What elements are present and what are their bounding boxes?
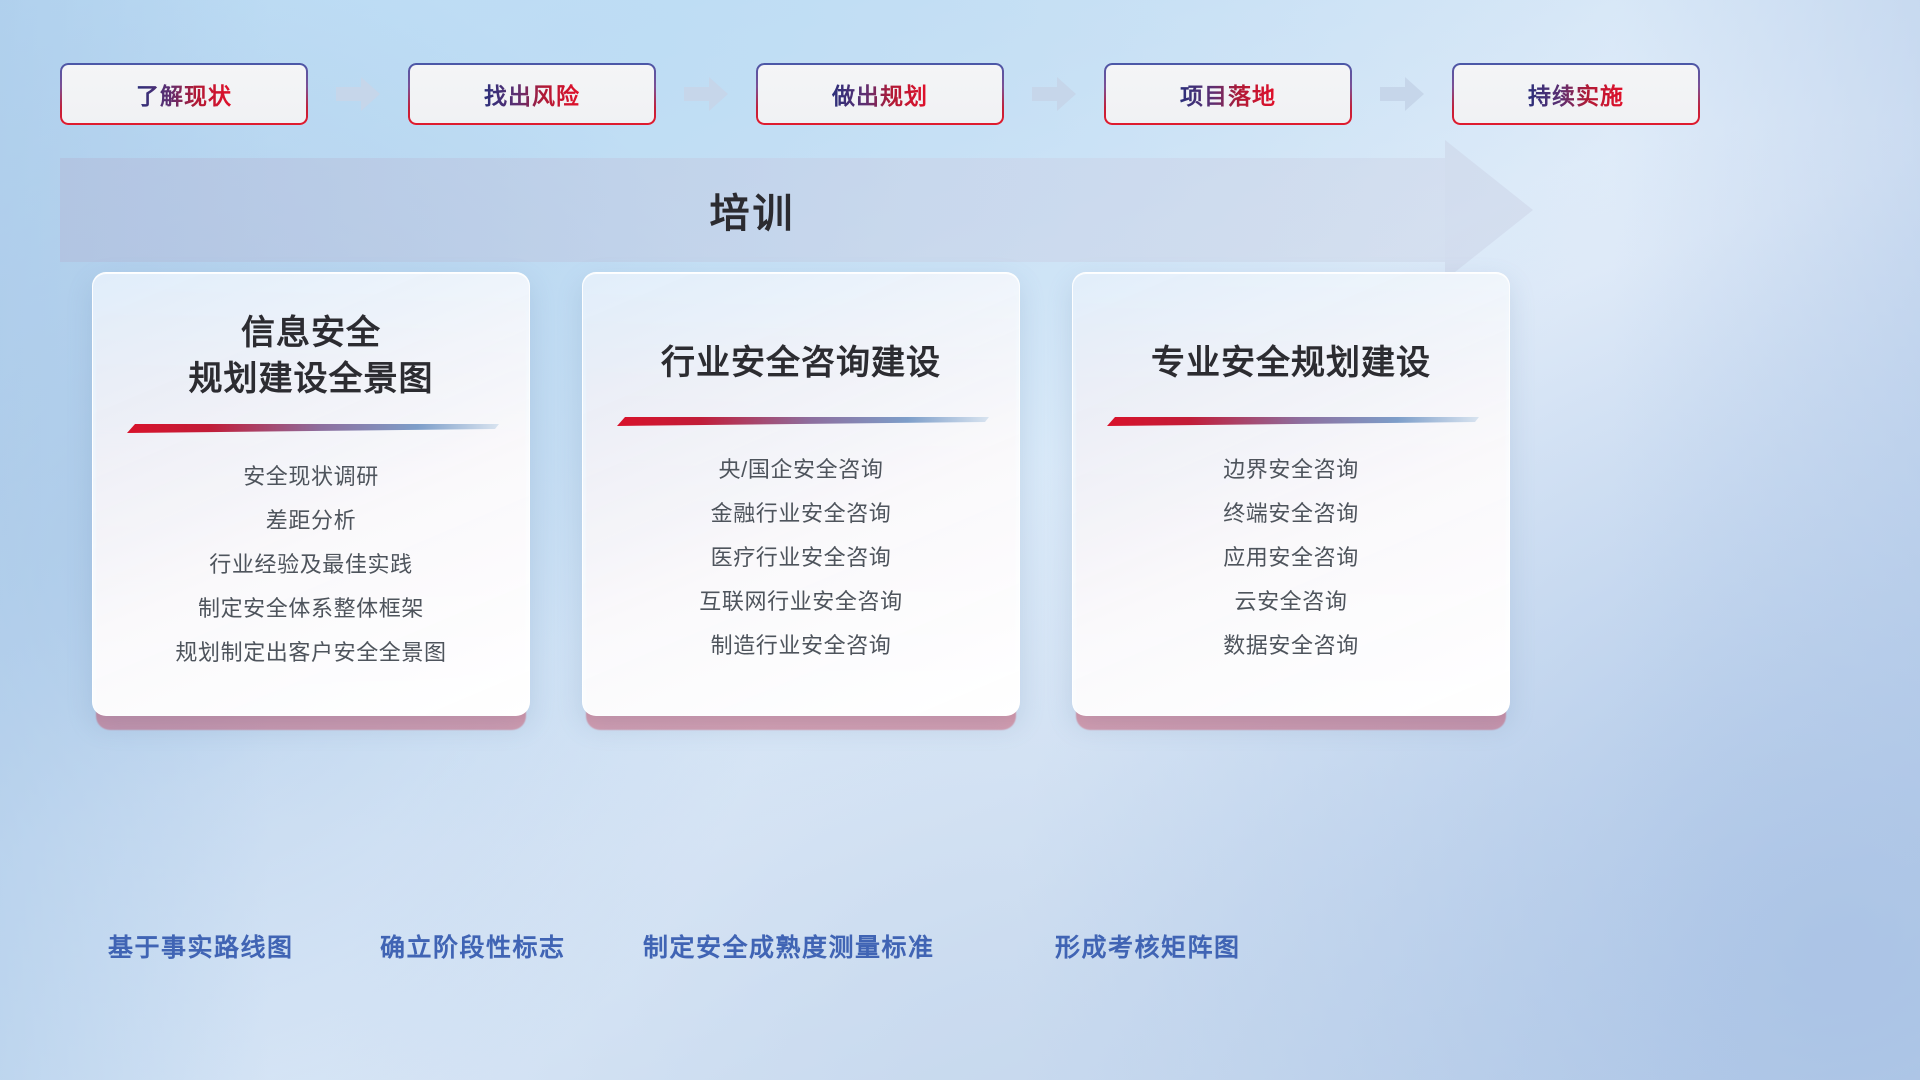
step-label: 了解现状 <box>136 77 232 111</box>
card-list: 边界安全咨询 终端安全咨询 应用安全咨询 云安全咨询 数据安全咨询 <box>1073 453 1509 663</box>
list-item: 数据安全咨询 <box>1223 629 1359 663</box>
list-item: 边界安全咨询 <box>1223 453 1359 487</box>
list-item: 制造行业安全咨询 <box>711 629 892 663</box>
list-item: 制定安全体系整体框架 <box>198 592 424 626</box>
process-steps: 了解现状 找出风险 做出规划 项目落地 持续实施 <box>60 63 1860 125</box>
card-1[interactable]: 信息安全 规划建设全景图 安全现状调研 <box>92 272 530 716</box>
step-label: 项目落地 <box>1180 77 1276 111</box>
list-item: 应用安全咨询 <box>1223 541 1359 575</box>
card-list: 安全现状调研 差距分析 行业经验及最佳实践 制定安全体系整体框架 规划制定出客户… <box>93 460 529 670</box>
list-item: 终端安全咨询 <box>1223 497 1359 531</box>
bottom-label-row: 基于事实路线图 确立阶段性标志 制定安全成熟度测量标准 形成考核矩阵图 <box>0 928 1920 974</box>
card-divider <box>613 415 989 427</box>
step-card-3[interactable]: 做出规划 <box>756 63 1004 125</box>
list-item: 差距分析 <box>266 504 356 538</box>
card-divider <box>1103 415 1479 427</box>
card-title: 信息安全 规划建设全景图 <box>189 311 434 402</box>
bottom-label-2: 确立阶段性标志 <box>380 928 566 964</box>
card-body: 专业安全规划建设 边界安全咨询 <box>1072 272 1510 716</box>
step-card-5[interactable]: 持续实施 <box>1452 63 1700 125</box>
card-title: 专业安全规划建设 <box>1151 341 1431 387</box>
step-arrow-icon-4 <box>1352 63 1452 125</box>
card-body: 信息安全 规划建设全景图 安全现状调研 <box>92 272 530 716</box>
training-banner: 培训 <box>60 158 1520 262</box>
list-item: 互联网行业安全咨询 <box>699 585 902 619</box>
list-item: 医疗行业安全咨询 <box>711 541 892 575</box>
bottom-label-1: 基于事实路线图 <box>108 928 294 964</box>
step-arrow-icon-3 <box>1004 63 1104 125</box>
step-card-2[interactable]: 找出风险 <box>408 63 656 125</box>
card-divider <box>123 422 499 434</box>
list-item: 云安全咨询 <box>1234 585 1347 619</box>
banner-arrowhead-icon <box>1445 140 1533 280</box>
step-arrow-icon-1 <box>308 63 408 125</box>
list-item: 安全现状调研 <box>243 460 379 494</box>
card-2[interactable]: 行业安全咨询建设 央/国企安全咨询 <box>582 272 1020 716</box>
list-item: 规划制定出客户安全全景图 <box>175 636 446 670</box>
list-item: 金融行业安全咨询 <box>711 497 892 531</box>
list-item: 央/国企安全咨询 <box>719 453 884 487</box>
banner-label: 培训 <box>60 158 1445 262</box>
bottom-label-4: 形成考核矩阵图 <box>1055 928 1241 964</box>
card-group: 信息安全 规划建设全景图 安全现状调研 <box>92 272 1512 716</box>
step-label: 持续实施 <box>1528 77 1624 111</box>
step-card-4[interactable]: 项目落地 <box>1104 63 1352 125</box>
card-body: 行业安全咨询建设 央/国企安全咨询 <box>582 272 1020 716</box>
step-label: 做出规划 <box>832 77 928 111</box>
step-arrow-icon-2 <box>656 63 756 125</box>
card-3[interactable]: 专业安全规划建设 边界安全咨询 <box>1072 272 1510 716</box>
step-label: 找出风险 <box>484 77 580 111</box>
card-list: 央/国企安全咨询 金融行业安全咨询 医疗行业安全咨询 互联网行业安全咨询 制造行… <box>583 453 1019 663</box>
bottom-label-3: 制定安全成熟度测量标准 <box>643 928 935 964</box>
step-card-1[interactable]: 了解现状 <box>60 63 308 125</box>
card-title: 行业安全咨询建设 <box>661 341 941 387</box>
list-item: 行业经验及最佳实践 <box>209 548 412 582</box>
